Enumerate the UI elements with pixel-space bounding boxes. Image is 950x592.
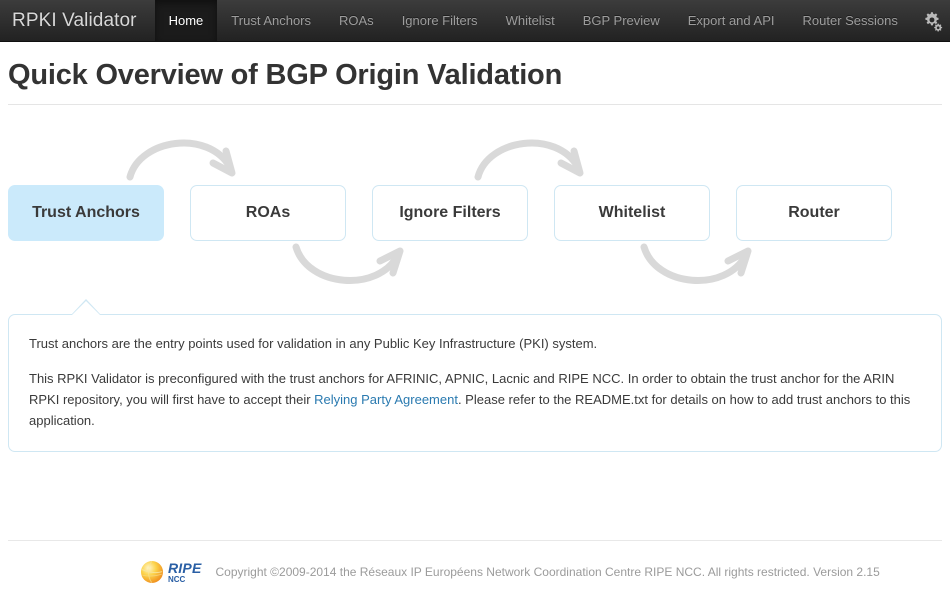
relying-party-agreement-link[interactable]: Relying Party Agreement — [314, 392, 458, 407]
ripe-wordmark: RIPE NCC — [168, 561, 201, 584]
nav-item-export-and-api[interactable]: Export and API — [674, 0, 789, 41]
ripe-globe-icon — [139, 559, 165, 585]
nav-item-router-sessions[interactable]: Router Sessions — [789, 0, 912, 41]
title-divider — [8, 104, 942, 105]
flow-boxes: Trust Anchors ROAs Ignore Filters Whitel… — [8, 185, 942, 241]
flow-box-roas[interactable]: ROAs — [190, 185, 346, 241]
nav-item-roas[interactable]: ROAs — [325, 0, 388, 41]
panel-caret — [71, 299, 101, 315]
page-title: Quick Overview of BGP Origin Validation — [8, 42, 942, 104]
description-paragraph-1: Trust anchors are the entry points used … — [29, 333, 921, 354]
flow-box-trust-anchors[interactable]: Trust Anchors — [8, 185, 164, 241]
top-navbar: RPKI Validator Home Trust Anchors ROAs I… — [0, 0, 950, 42]
flow-box-ignore-filters[interactable]: Ignore Filters — [372, 185, 528, 241]
description-paragraph-2: This RPKI Validator is preconfigured wit… — [29, 368, 921, 431]
ripe-ncc-logo: RIPE NCC — [139, 559, 201, 585]
page-container: Quick Overview of BGP Origin Validation … — [0, 42, 950, 585]
nav-item-trust-anchors[interactable]: Trust Anchors — [217, 0, 325, 41]
nav-item-bgp-preview[interactable]: BGP Preview — [569, 0, 674, 41]
brand-title[interactable]: RPKI Validator — [0, 0, 155, 41]
cogs-icon[interactable] — [912, 0, 950, 41]
nav-item-ignore-filters[interactable]: Ignore Filters — [388, 0, 492, 41]
nav-item-whitelist[interactable]: Whitelist — [492, 0, 569, 41]
ripe-wordmark-line2: NCC — [168, 576, 201, 584]
flow-box-router[interactable]: Router — [736, 185, 892, 241]
copyright-text: Copyright ©2009-2014 the Réseaux IP Euro… — [215, 565, 879, 579]
flow-diagram: Trust Anchors ROAs Ignore Filters Whitel… — [8, 115, 942, 311]
description-panel: Trust anchors are the entry points used … — [8, 314, 942, 452]
ripe-wordmark-line1: RIPE — [168, 561, 201, 575]
footer: RIPE NCC Copyright ©2009-2014 the Réseau… — [8, 541, 942, 585]
flow-box-whitelist[interactable]: Whitelist — [554, 185, 710, 241]
nav-items: Home Trust Anchors ROAs Ignore Filters W… — [155, 0, 912, 41]
nav-item-home[interactable]: Home — [155, 0, 218, 41]
